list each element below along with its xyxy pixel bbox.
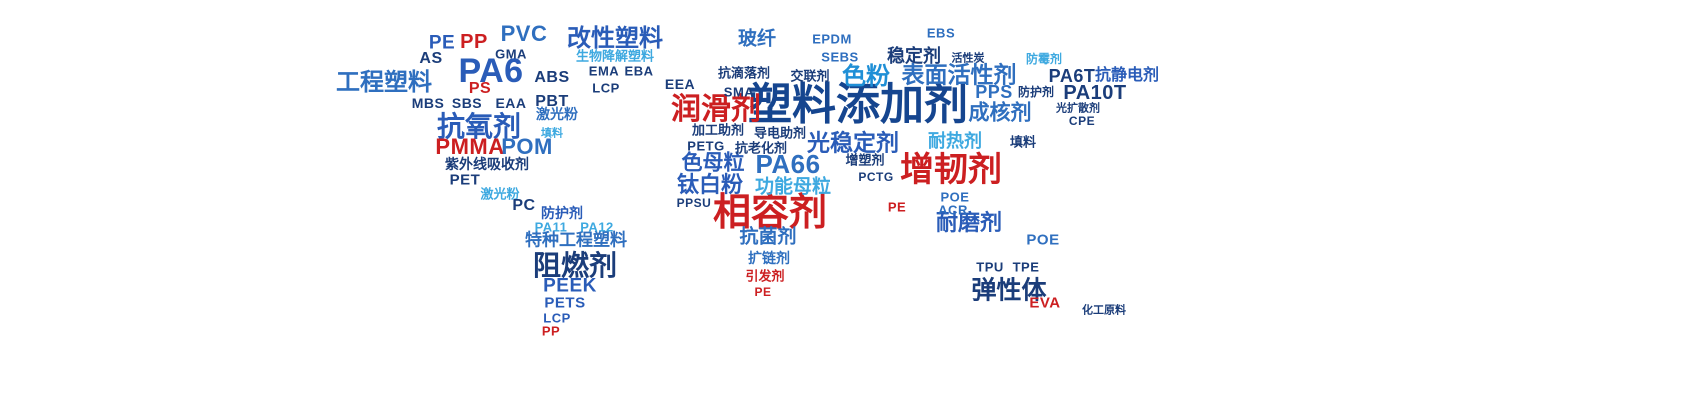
- cloud-word[interactable]: SEBS: [821, 51, 858, 64]
- cloud-word[interactable]: EEA: [665, 77, 695, 91]
- cloud-word[interactable]: 抗菌剂: [739, 228, 796, 247]
- cloud-word[interactable]: PCTG: [858, 171, 893, 183]
- cloud-word[interactable]: 生物降解塑料: [576, 51, 654, 64]
- cloud-word[interactable]: 功能母粒: [755, 178, 831, 197]
- cloud-word[interactable]: EMA: [589, 65, 619, 78]
- cloud-word[interactable]: GMA: [495, 48, 527, 61]
- cloud-word[interactable]: 玻纤: [738, 30, 776, 49]
- cloud-word[interactable]: PMMA: [435, 136, 504, 158]
- cloud-word[interactable]: 加工助剂: [692, 125, 744, 138]
- cloud-word[interactable]: MBS: [412, 96, 445, 110]
- cloud-word[interactable]: 填料: [1010, 137, 1036, 150]
- cloud-word[interactable]: ACR: [938, 204, 968, 217]
- cloud-word[interactable]: CPE: [1069, 115, 1095, 127]
- cloud-word[interactable]: PA11: [535, 221, 568, 234]
- cloud-word[interactable]: 抗滴落剂: [718, 68, 770, 81]
- cloud-word[interactable]: PEEK: [543, 277, 597, 296]
- cloud-word[interactable]: 交联剂: [790, 71, 829, 84]
- cloud-word[interactable]: 扩链剂: [748, 252, 790, 266]
- cloud-word[interactable]: 润滑剂: [671, 95, 761, 125]
- cloud-word[interactable]: TPU: [976, 261, 1004, 274]
- cloud-word[interactable]: 防护剂: [1018, 86, 1054, 98]
- cloud-word[interactable]: PE: [754, 286, 771, 298]
- cloud-word[interactable]: SBS: [452, 96, 482, 110]
- cloud-word[interactable]: PVC: [501, 23, 548, 45]
- cloud-word[interactable]: 导电助剂: [754, 128, 806, 141]
- cloud-word[interactable]: 特种工程塑料: [525, 233, 627, 250]
- cloud-word[interactable]: 抗静电剂: [1095, 67, 1159, 83]
- cloud-word[interactable]: PA12: [580, 221, 614, 234]
- cloud-word[interactable]: 增韧剂: [900, 153, 1002, 187]
- cloud-word[interactable]: ABS: [534, 70, 569, 86]
- cloud-word[interactable]: PP: [460, 32, 488, 52]
- cloud-word[interactable]: EPDM: [812, 33, 852, 46]
- cloud-word[interactable]: TPE: [1013, 261, 1040, 274]
- cloud-word[interactable]: 光稳定剂: [807, 133, 899, 156]
- cloud-word[interactable]: 紫外线吸收剂: [445, 158, 529, 172]
- cloud-word[interactable]: 光扩散剂: [1056, 103, 1100, 114]
- cloud-word[interactable]: PA6T: [1049, 67, 1096, 85]
- cloud-word[interactable]: PPSU: [677, 197, 712, 209]
- cloud-word[interactable]: PC: [512, 198, 535, 214]
- cloud-word[interactable]: 稳定剂: [887, 48, 941, 66]
- cloud-word[interactable]: 抗老化剂: [735, 143, 787, 156]
- cloud-word[interactable]: PPS: [975, 83, 1013, 101]
- cloud-word[interactable]: 防霉剂: [1026, 53, 1062, 65]
- cloud-word[interactable]: LCP: [592, 82, 620, 95]
- cloud-word[interactable]: 工程塑料: [336, 70, 432, 94]
- cloud-word[interactable]: 引发剂: [745, 271, 784, 284]
- cloud-word[interactable]: PP: [542, 325, 560, 338]
- cloud-word[interactable]: 改性塑料: [567, 26, 663, 50]
- cloud-word[interactable]: 钛白粉: [677, 175, 743, 197]
- cloud-word[interactable]: 增塑剂: [845, 155, 884, 168]
- cloud-word[interactable]: POE: [1026, 233, 1059, 248]
- cloud-word[interactable]: 化工原料: [1082, 305, 1126, 316]
- cloud-word[interactable]: 耐热剂: [928, 133, 982, 151]
- cloud-word[interactable]: 成核剂: [969, 103, 1032, 124]
- cloud-word[interactable]: 激光粉: [536, 108, 578, 122]
- cloud-word[interactable]: PETS: [544, 296, 585, 311]
- cloud-word[interactable]: PE: [888, 201, 906, 214]
- cloud-word[interactable]: PET: [450, 173, 481, 188]
- cloud-word[interactable]: AS: [419, 51, 442, 67]
- cloud-word[interactable]: EBA: [625, 65, 654, 78]
- cloud-word[interactable]: 色粉: [842, 64, 890, 88]
- cloud-word[interactable]: EVA: [1029, 296, 1060, 311]
- cloud-word[interactable]: 填料: [541, 128, 563, 139]
- cloud-word[interactable]: 活性炭: [952, 53, 985, 64]
- cloud-word[interactable]: EAA: [495, 96, 526, 110]
- cloud-word[interactable]: PA10T: [1063, 83, 1126, 103]
- cloud-word[interactable]: PETG: [687, 140, 724, 153]
- cloud-word[interactable]: SMA: [724, 86, 754, 99]
- cloud-word[interactable]: EBS: [927, 27, 955, 40]
- wordcloud-canvas: 塑料添加剂相容剂增韧剂润滑剂阻燃剂抗氧剂PA6工程塑料改性塑料表面活性剂光稳定剂…: [0, 0, 1707, 400]
